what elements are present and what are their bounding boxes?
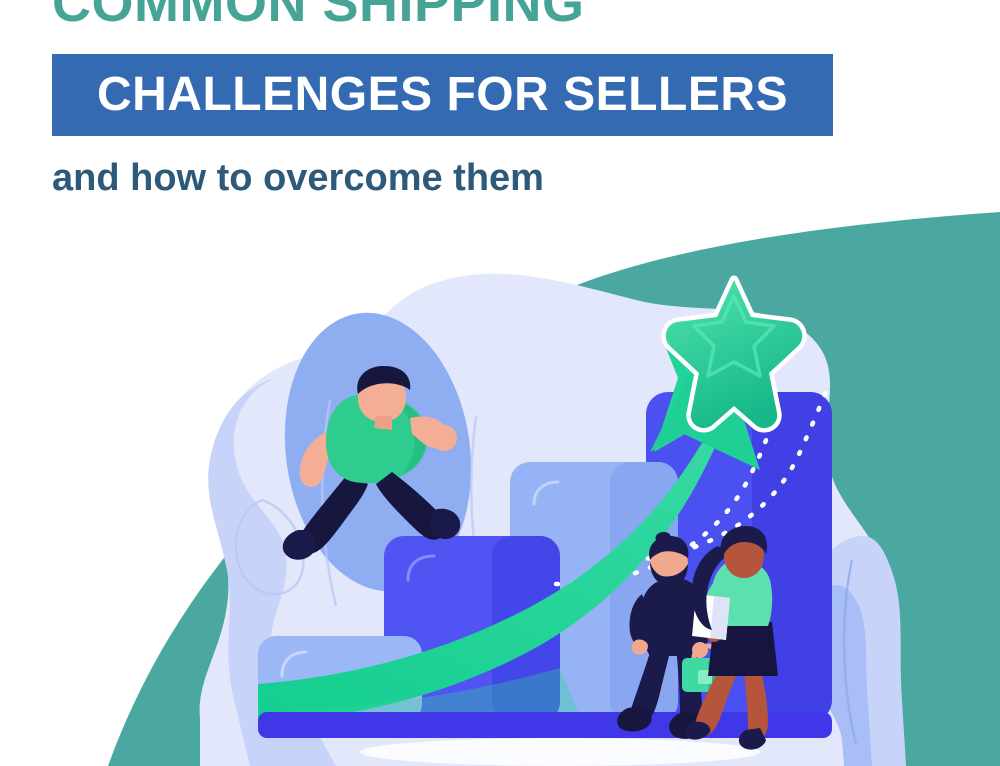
poster-canvas: COMMON SHIPPING CHALLENGES FOR SELLERS a… [0,0,1000,766]
subtitle-text: and how to overcome them [52,158,544,200]
headline-bar: CHALLENGES FOR SELLERS [52,54,833,136]
headline-text: CHALLENGES FOR SELLERS [97,71,788,119]
eyebrow-title: COMMON SHIPPING [52,0,585,30]
ground-shadow [360,738,760,766]
running-man-neck [374,416,392,430]
running-man-fist [431,425,457,451]
